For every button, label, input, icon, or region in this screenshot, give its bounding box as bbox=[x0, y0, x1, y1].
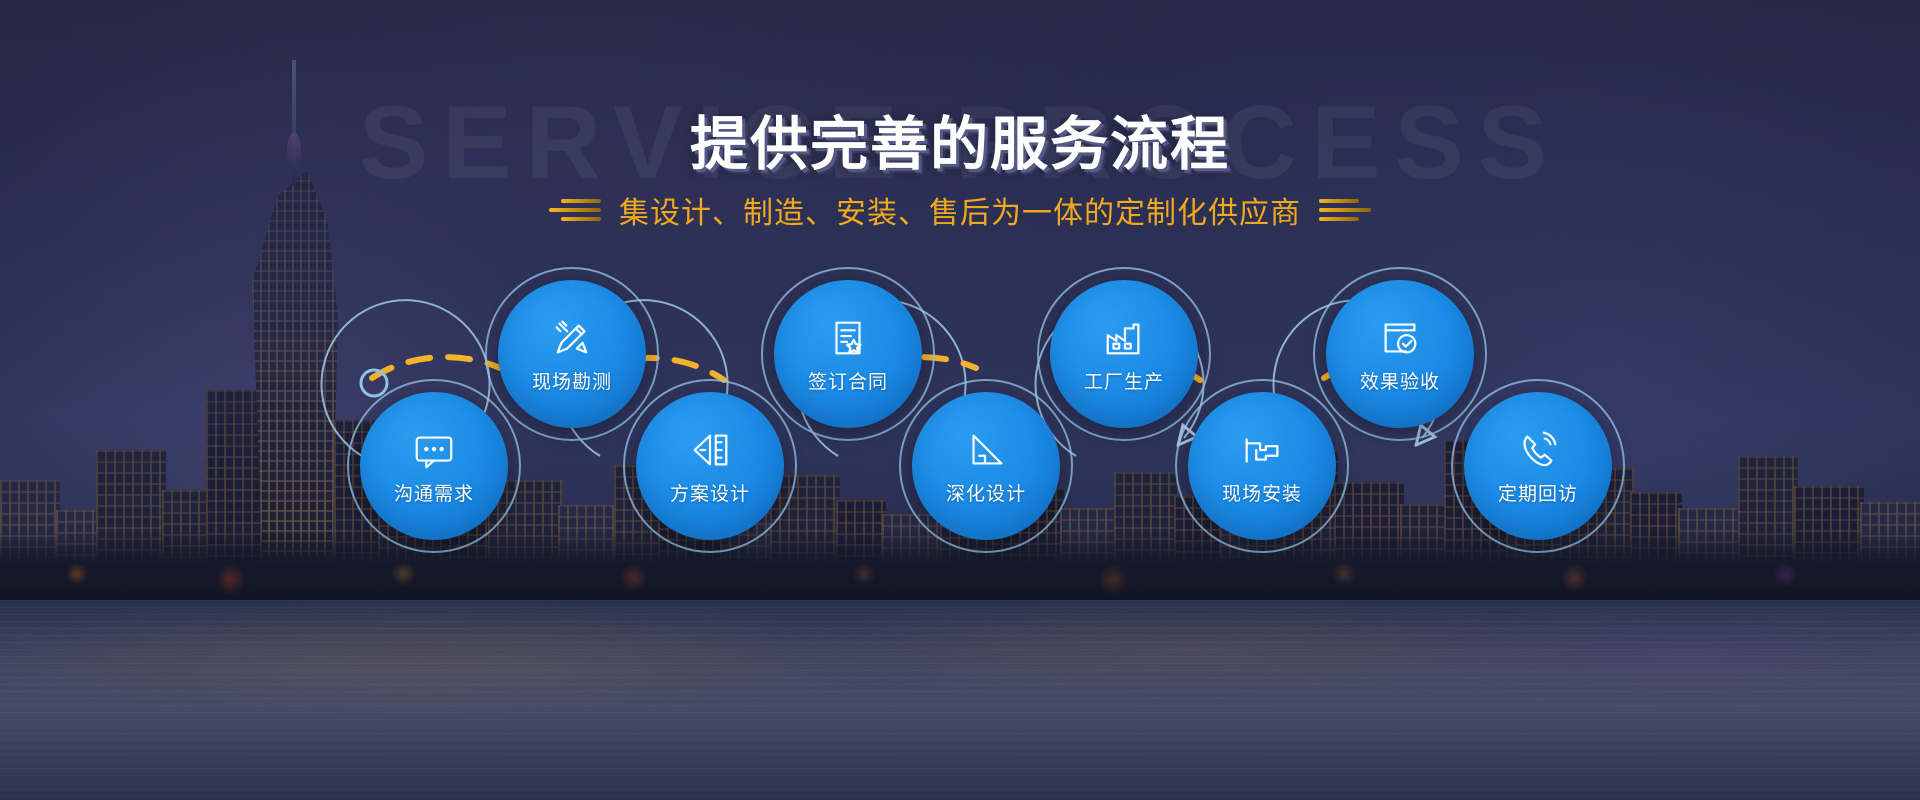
step-label: 沟通需求 bbox=[394, 479, 474, 506]
process-step-7[interactable]: 现场安装 bbox=[1188, 392, 1336, 540]
page-subtitle: 集设计、制造、安装、售后为一体的定制化供应商 bbox=[619, 188, 1301, 232]
process-step-3[interactable]: 方案设计 bbox=[636, 392, 784, 540]
factory-icon bbox=[1101, 315, 1147, 361]
step-disc: 工厂生产 bbox=[1050, 280, 1198, 428]
step-disc: 签订合同 bbox=[774, 280, 922, 428]
step-label: 深化设计 bbox=[946, 479, 1026, 506]
phone-call-icon bbox=[1515, 427, 1561, 473]
step-label: 方案设计 bbox=[670, 479, 750, 506]
step-disc: 沟通需求 bbox=[360, 392, 508, 540]
process-step-9[interactable]: 定期回访 bbox=[1464, 392, 1612, 540]
step-label: 定期回访 bbox=[1498, 479, 1578, 506]
page-title: 提供完善的服务流程 bbox=[0, 97, 1920, 181]
pencil-ruler-icon bbox=[549, 315, 595, 361]
step-disc: 深化设计 bbox=[912, 392, 1060, 540]
set-square-icon bbox=[963, 427, 1009, 473]
process-step-2[interactable]: 现场勘测 bbox=[498, 280, 646, 428]
process-step-4[interactable]: 签订合同 bbox=[774, 280, 922, 428]
service-process-flow: 沟通需求 现场勘测 bbox=[0, 250, 1920, 550]
triple-line-right-icon bbox=[1319, 199, 1371, 221]
power-drill-icon bbox=[1239, 427, 1285, 473]
triple-line-left-icon bbox=[549, 199, 601, 221]
process-step-1[interactable]: 沟通需求 bbox=[360, 392, 508, 540]
check-window-icon bbox=[1377, 315, 1423, 361]
process-step-5[interactable]: 深化设计 bbox=[912, 392, 1060, 540]
step-label: 工厂生产 bbox=[1084, 367, 1164, 394]
step-label: 签订合同 bbox=[808, 367, 888, 394]
contract-seal-icon bbox=[825, 315, 871, 361]
step-label: 现场勘测 bbox=[532, 367, 612, 394]
ruler-scale-icon bbox=[687, 427, 733, 473]
chat-bubble-icon bbox=[411, 427, 457, 473]
process-step-6[interactable]: 工厂生产 bbox=[1050, 280, 1198, 428]
step-disc: 现场勘测 bbox=[498, 280, 646, 428]
step-disc: 方案设计 bbox=[636, 392, 784, 540]
step-label: 效果验收 bbox=[1360, 367, 1440, 394]
process-step-8[interactable]: 效果验收 bbox=[1326, 280, 1474, 428]
subtitle-row: 集设计、制造、安装、售后为一体的定制化供应商 bbox=[0, 188, 1920, 232]
step-disc: 效果验收 bbox=[1326, 280, 1474, 428]
step-disc: 现场安装 bbox=[1188, 392, 1336, 540]
step-disc: 定期回访 bbox=[1464, 392, 1612, 540]
banner-stage: SERVICE PROCESS 提供完善的服务流程 集设计、制造、安装、售后为一… bbox=[0, 0, 1920, 800]
step-label: 现场安装 bbox=[1222, 479, 1302, 506]
